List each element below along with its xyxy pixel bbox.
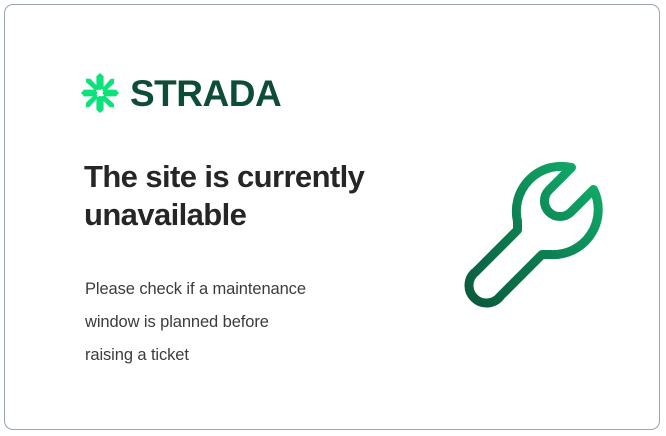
strada-asterisk-icon <box>81 73 119 113</box>
description-line: raising a ticket <box>85 339 395 372</box>
page-title: The site is currently unavailable <box>84 158 424 234</box>
description-line: Please check if a maintenance <box>85 273 395 306</box>
error-page: STRADA The site is currently unavailable… <box>0 0 666 436</box>
brand-wordmark: STRADA <box>130 75 281 112</box>
status-card: STRADA The site is currently unavailable… <box>4 4 660 430</box>
brand-logo: STRADA <box>81 73 281 113</box>
status-description: Please check if a maintenance window is … <box>85 273 395 372</box>
description-line: window is planned before <box>85 306 395 339</box>
